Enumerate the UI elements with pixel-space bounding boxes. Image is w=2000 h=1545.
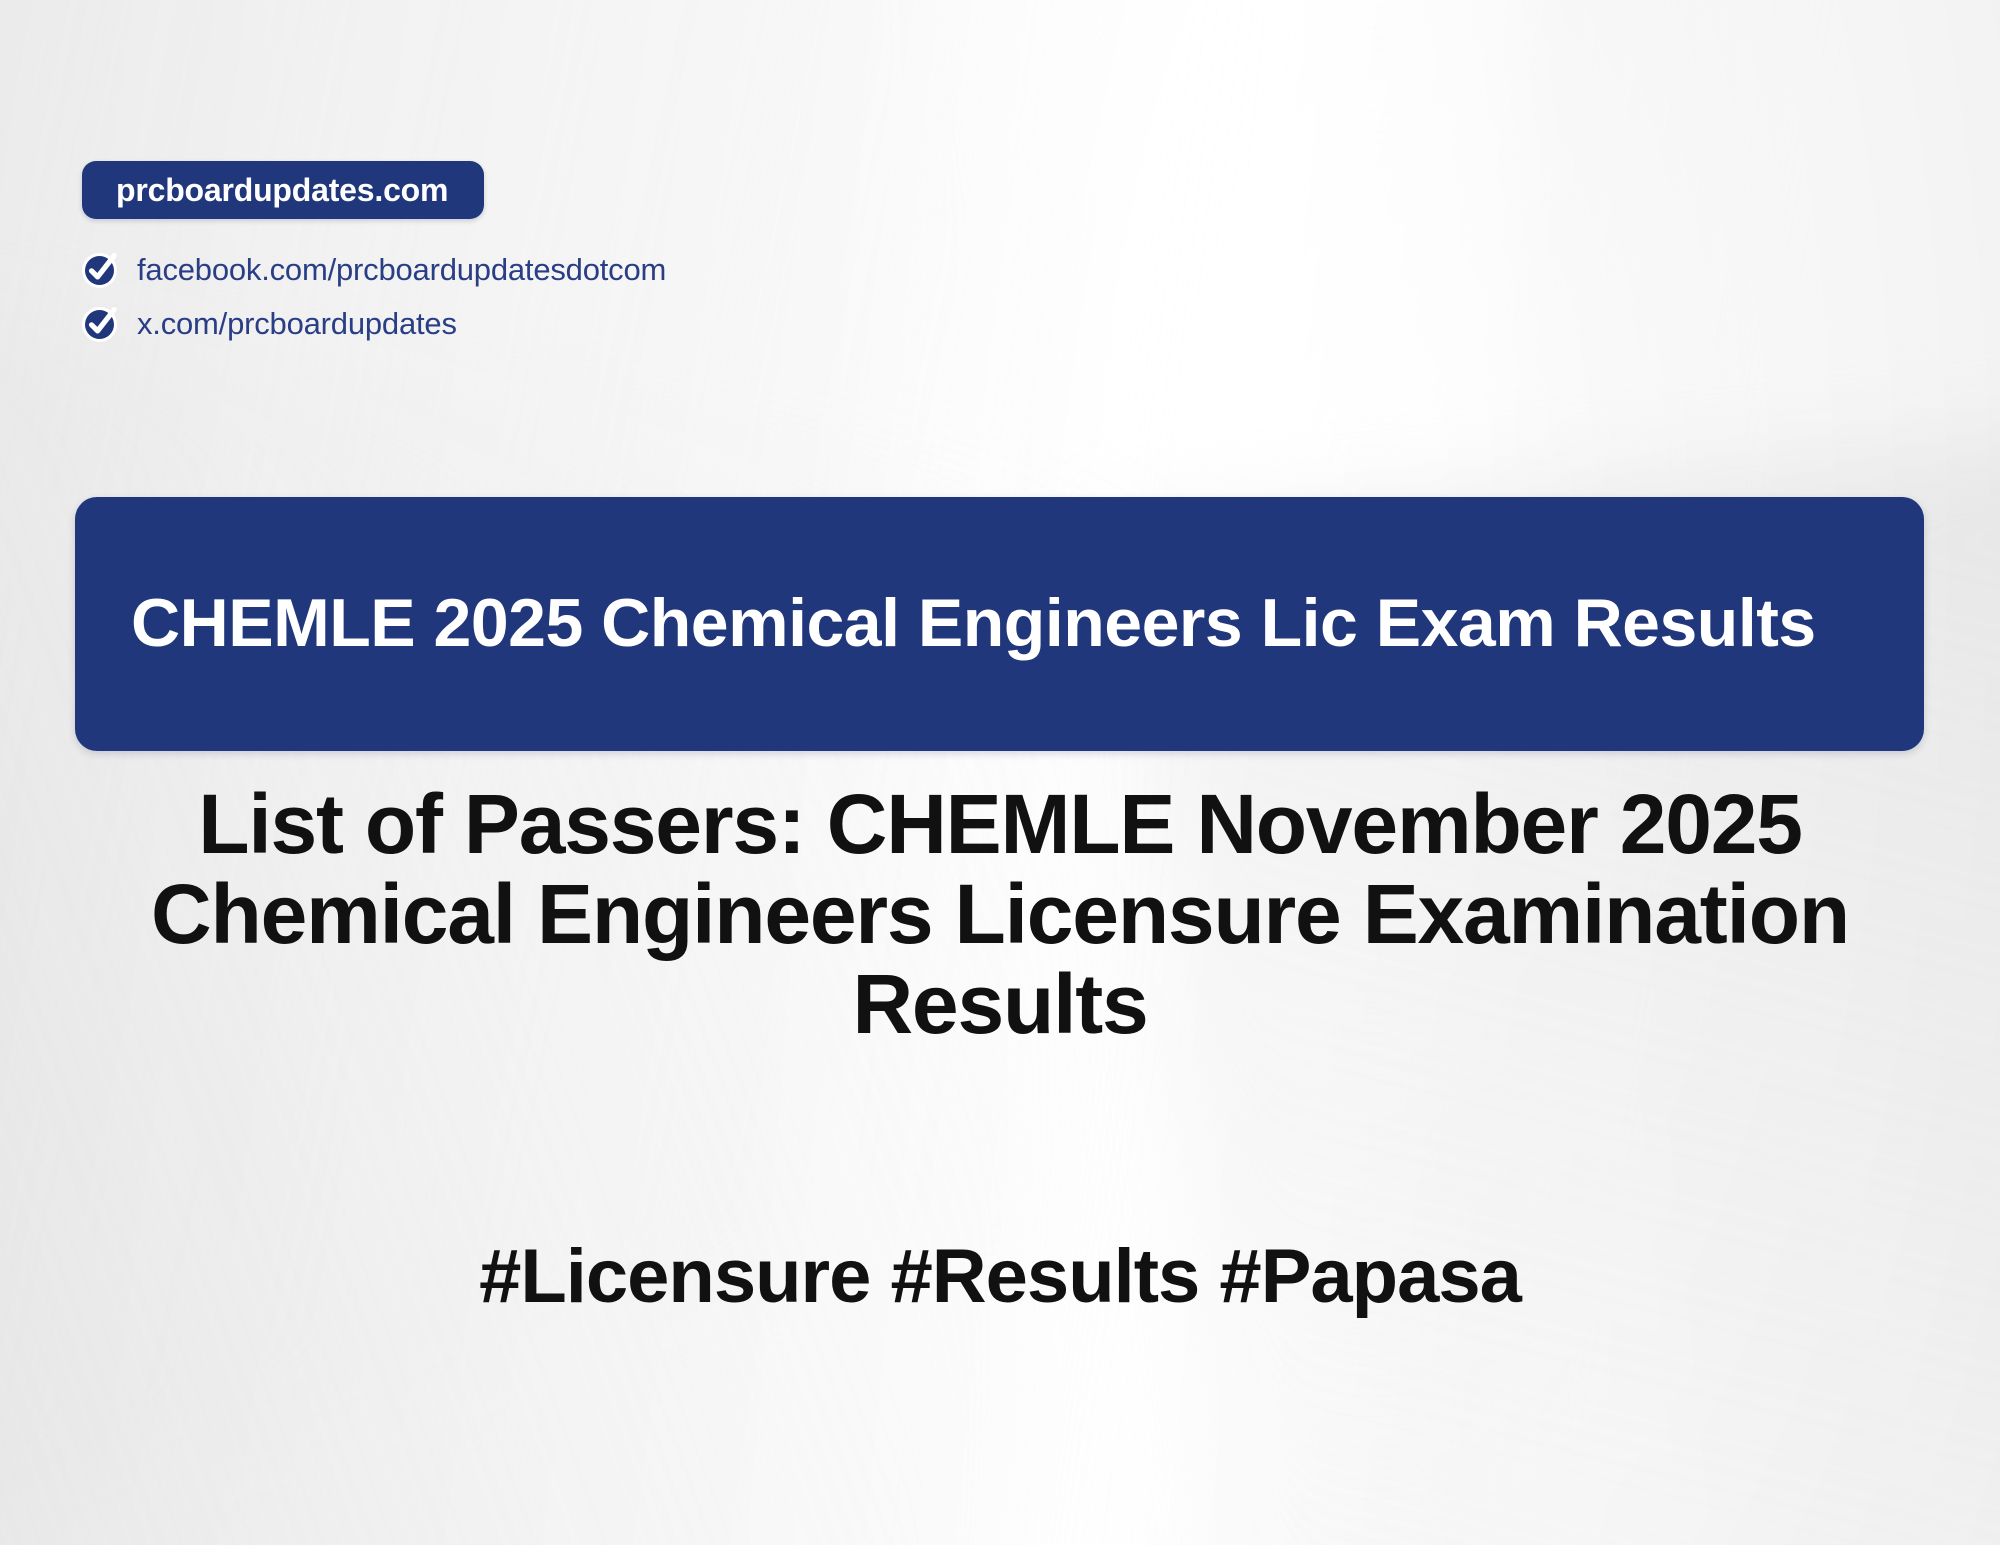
social-link-facebook-label: facebook.com/prcboardupdatesdotcom (137, 254, 666, 285)
brand-website-label: prcboardupdates.com (116, 174, 448, 206)
brand-website-pill[interactable]: prcboardupdates.com (82, 161, 484, 219)
social-link-x-label: x.com/prcboardupdates (137, 308, 457, 339)
exam-banner-title: CHEMLE 2025 Chemical Engineers Lic Exam … (75, 588, 1924, 659)
page-title: List of Passers: CHEMLE November 2025 Ch… (100, 780, 1900, 1050)
social-link-facebook[interactable]: facebook.com/prcboardupdatesdotcom (82, 248, 666, 290)
exam-banner: CHEMLE 2025 Chemical Engineers Lic Exam … (75, 497, 1924, 751)
social-link-x[interactable]: x.com/prcboardupdates (82, 302, 666, 344)
hashtag-line: #Licensure #Results #Papasa (100, 1235, 1900, 1319)
verified-check-badge-icon (79, 301, 123, 345)
result-card: prcboardupdates.com facebook.com/prcboar… (0, 0, 2000, 1545)
verified-check-badge-icon (79, 247, 123, 291)
social-links-list: facebook.com/prcboardupdatesdotcom x.com… (82, 248, 666, 344)
